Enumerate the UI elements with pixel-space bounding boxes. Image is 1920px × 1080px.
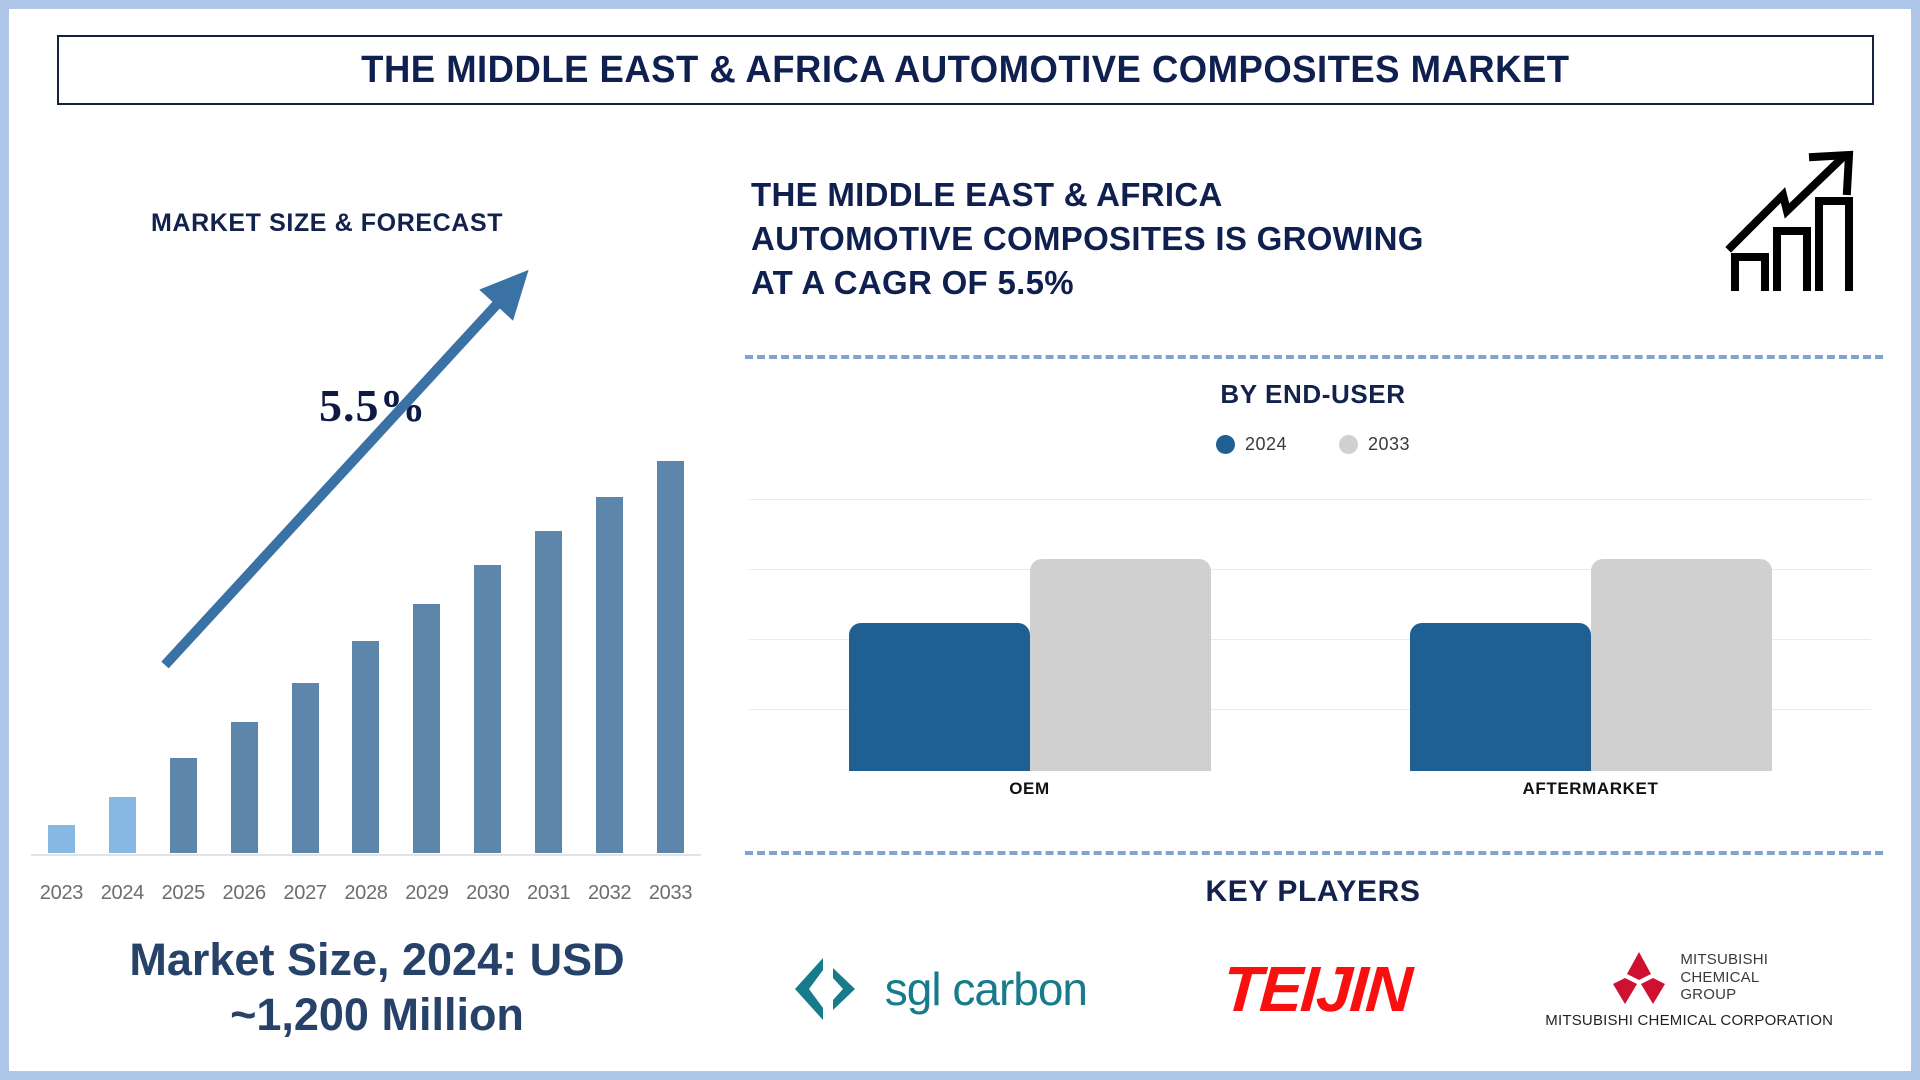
market-size-bar-slot: [396, 313, 457, 853]
market-size-bar: [596, 497, 623, 853]
market-size-bar-slot: [153, 313, 214, 853]
right-panel: THE MIDDLE EAST & AFRICA AUTOMOTIVE COMP…: [715, 129, 1911, 1059]
cagr-headline-line-1: THE MIDDLE EAST & AFRICA: [751, 173, 1671, 217]
end-user-bar: [1030, 559, 1211, 771]
end-user-bar: [849, 623, 1030, 771]
market-size-bar-slot: [336, 313, 397, 853]
teijin-wordmark: TEIJIN: [1220, 952, 1412, 1026]
market-size-bar-slot: [275, 313, 336, 853]
year-label: 2026: [214, 882, 275, 905]
sgl-carbon-mark-icon: [793, 956, 867, 1022]
year-label: 2031: [518, 882, 579, 905]
mitsubishi-wordmark: MITSUBISHI CHEMICAL GROUP: [1680, 951, 1768, 1004]
sgl-carbon-wordmark: sgl carbon: [885, 962, 1087, 1016]
market-size-bar-slot: [31, 313, 92, 853]
year-label: 2024: [92, 882, 153, 905]
market-size-bar: [352, 641, 379, 853]
divider-top: [745, 355, 1883, 359]
end-user-legend: 20242033: [715, 434, 1911, 455]
logo-mitsubishi-chemical: MITSUBISHI CHEMICAL GROUP MITSUBISHI CHE…: [1545, 950, 1833, 1029]
end-user-bars: [749, 481, 1871, 771]
logo-sgl-carbon: sgl carbon: [793, 956, 1087, 1022]
end-user-bar: [1410, 623, 1591, 771]
key-players-title: KEY PLAYERS: [715, 875, 1911, 909]
year-label: 2032: [579, 882, 640, 905]
legend-item[interactable]: 2033: [1339, 434, 1410, 455]
growth-chart-icon: [1721, 139, 1861, 299]
left-panel: MARKET SIZE & FORECAST 5.5% 202320242025…: [9, 129, 715, 1059]
market-size-bar-slot: [92, 313, 153, 853]
market-size-bar: [474, 565, 501, 853]
market-size-forecast-chart: 2023202420252026202720282029203020312032…: [31, 299, 701, 969]
market-size-bar: [109, 797, 136, 853]
cagr-headline: THE MIDDLE EAST & AFRICA AUTOMOTIVE COMP…: [751, 173, 1671, 305]
market-size-bar-slot: [214, 313, 275, 853]
mitsubishi-logo-top: MITSUBISHI CHEMICAL GROUP: [1610, 950, 1768, 1006]
market-size-forecast-label: MARKET SIZE & FORECAST: [151, 209, 503, 238]
end-user-label: AFTERMARKET: [1310, 779, 1871, 799]
mitsubishi-subtitle: MITSUBISHI CHEMICAL CORPORATION: [1545, 1012, 1833, 1029]
title-box: THE MIDDLE EAST & AFRICA AUTOMOTIVE COMP…: [57, 35, 1874, 105]
market-size-line-2: ~1,200 Million: [230, 989, 524, 1040]
market-size-bar-slot: [579, 313, 640, 853]
logo-teijin: TEIJIN: [1223, 952, 1410, 1026]
market-size-bar: [48, 825, 75, 853]
infographic-poster: THE MIDDLE EAST & AFRICA AUTOMOTIVE COMP…: [0, 0, 1920, 1080]
year-axis-labels: 2023202420252026202720282029203020312032…: [31, 882, 701, 905]
legend-label: 2024: [1245, 434, 1287, 455]
market-size-bar-slot: [457, 313, 518, 853]
year-label: 2025: [153, 882, 214, 905]
end-user-label: OEM: [749, 779, 1310, 799]
poster-canvas: THE MIDDLE EAST & AFRICA AUTOMOTIVE COMP…: [9, 9, 1911, 1071]
market-size-bar: [292, 683, 319, 853]
market-size-bar: [413, 604, 440, 853]
mitsubishi-three-diamonds-icon: [1610, 950, 1668, 1006]
legend-label: 2033: [1368, 434, 1410, 455]
market-size-bar: [231, 722, 258, 853]
legend-dot-icon: [1339, 435, 1358, 454]
year-label: 2030: [457, 882, 518, 905]
market-size-bar: [657, 461, 684, 853]
page-title: THE MIDDLE EAST & AFRICA AUTOMOTIVE COMP…: [361, 49, 1569, 92]
end-user-chart: [749, 481, 1871, 771]
market-size-line-1: Market Size, 2024: USD: [129, 934, 624, 985]
end-user-bar: [1591, 559, 1772, 771]
chart-axis-line: [31, 854, 701, 856]
mitsubishi-word-line-2: CHEMICAL: [1680, 969, 1768, 987]
cagr-headline-line-2: AUTOMOTIVE COMPOSITES IS GROWING: [751, 217, 1671, 261]
market-size-bar-slot: [518, 313, 579, 853]
year-label: 2033: [640, 882, 701, 905]
market-size-bar-slot: [640, 313, 701, 853]
year-label: 2028: [336, 882, 397, 905]
cagr-headline-line-3: AT A CAGR OF 5.5%: [751, 261, 1671, 305]
end-user-bar-group: [1310, 481, 1871, 771]
year-label: 2027: [275, 882, 336, 905]
key-players-logos: sgl carbon TEIJIN MITSUBISHI: [725, 929, 1901, 1049]
legend-item[interactable]: 2024: [1216, 434, 1287, 455]
year-label: 2023: [31, 882, 92, 905]
market-size-bar: [535, 531, 562, 853]
year-label: 2029: [396, 882, 457, 905]
market-size-bar: [170, 758, 197, 853]
divider-mid: [745, 851, 1883, 855]
market-size-value: Market Size, 2024: USD ~1,200 Million: [57, 933, 697, 1043]
mitsubishi-word-line-1: MITSUBISHI: [1680, 951, 1768, 969]
end-user-category-labels: OEMAFTERMARKET: [749, 779, 1871, 799]
by-end-user-title: BY END-USER: [715, 379, 1911, 410]
mitsubishi-word-line-3: GROUP: [1680, 986, 1768, 1004]
end-user-bar-group: [749, 481, 1310, 771]
market-size-bars: [31, 313, 701, 853]
legend-dot-icon: [1216, 435, 1235, 454]
